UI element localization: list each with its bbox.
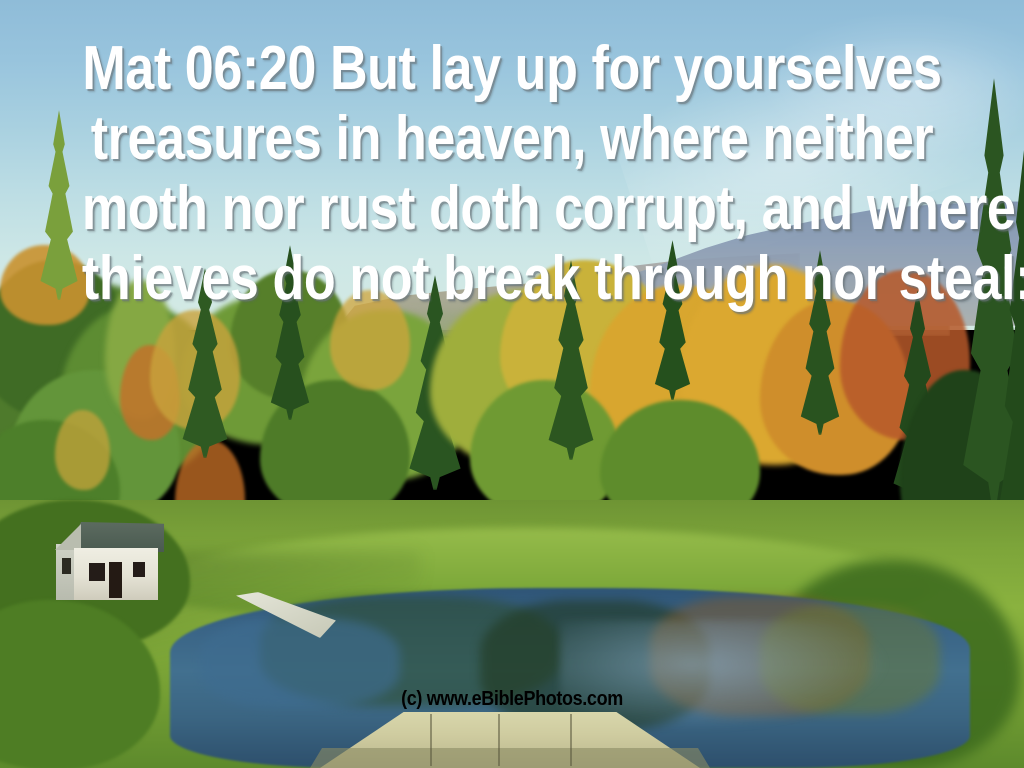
dock-front-edge [310, 748, 710, 768]
autumn-tree-left-gold [0, 245, 90, 325]
tree-mass-rc-green [470, 380, 620, 520]
autumn-tree-mid-yellow [330, 290, 410, 390]
shed-window-right [133, 562, 145, 577]
dock-plank-line-2 [498, 714, 500, 766]
dock-plank-line-3 [570, 714, 572, 766]
dock-plank-line-1 [430, 714, 432, 766]
watermark-credit: (c) www.eBiblePhotos.com [51, 688, 973, 711]
autumn-tree-left-yellow [55, 410, 110, 490]
shed-window-left [89, 563, 105, 581]
shed-window-side [62, 558, 71, 574]
shed-door [109, 562, 122, 598]
sky-haze-patch [760, 10, 1024, 160]
scripture-photo-image: Mat 06:20 But lay up for yourselves trea… [0, 0, 1024, 768]
